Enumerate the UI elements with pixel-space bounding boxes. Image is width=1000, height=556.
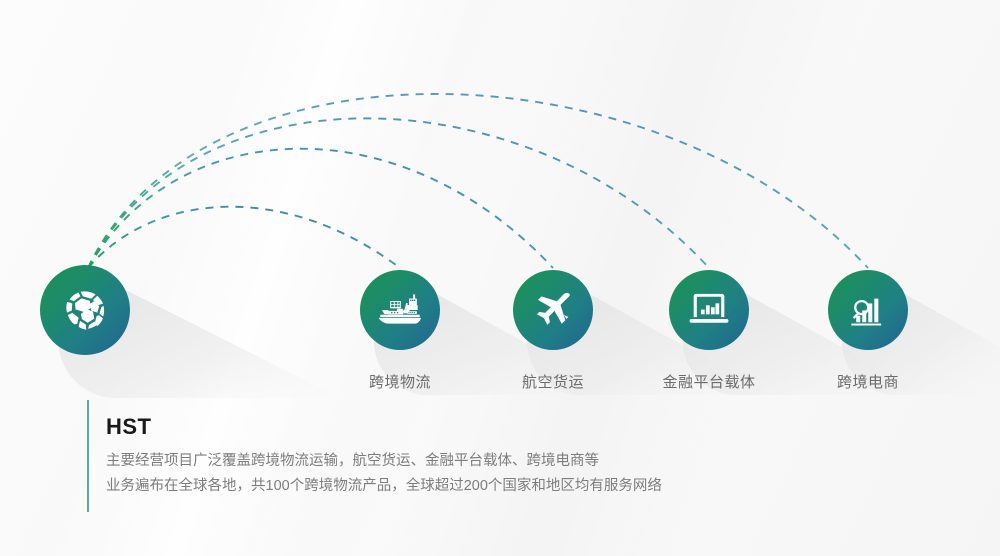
page-title: HST: [106, 416, 662, 438]
infographic-canvas: 跨境物流 航空货运 金融平台载体 跨境电商 HST 主要经营项目广泛覆盖跨境物流…: [0, 0, 1000, 556]
global-network-hub[interactable]: [40, 265, 130, 355]
arc-to-air-freight: [88, 149, 553, 268]
laptop-chart-icon: [686, 291, 732, 329]
company-info-block: HST 主要经营项目广泛覆盖跨境物流运输，航空货运、金融平台载体、跨境电商等 业…: [87, 400, 662, 512]
info-description-line-2: 业务遍布在全球各地，共100个跨境物流产品，全球超过200个国家和地区均有服务网…: [106, 474, 662, 499]
label-cross-border-ecommerce: 跨境电商: [768, 371, 968, 392]
magnifier-chart-icon: [846, 289, 890, 331]
node-cross-border-ecommerce[interactable]: [828, 270, 908, 350]
ecommerce-bubble[interactable]: [828, 270, 908, 350]
globe-network-icon: [62, 287, 108, 333]
arc-to-logistics: [88, 207, 400, 268]
node-air-freight[interactable]: [513, 270, 593, 350]
airplane-icon: [531, 288, 575, 332]
cargo-ship-icon: [377, 290, 423, 330]
node-financial-platform[interactable]: [669, 270, 749, 350]
financial-bubble[interactable]: [669, 270, 749, 350]
hub-bubble[interactable]: [40, 265, 130, 355]
arc-to-ecommerce: [88, 94, 868, 268]
air-freight-bubble[interactable]: [513, 270, 593, 350]
node-cross-border-logistics[interactable]: [360, 270, 440, 350]
info-description-line-1: 主要经营项目广泛覆盖跨境物流运输，航空货运、金融平台载体、跨境电商等: [106, 449, 662, 474]
arc-to-financial: [88, 118, 709, 268]
logistics-bubble[interactable]: [360, 270, 440, 350]
